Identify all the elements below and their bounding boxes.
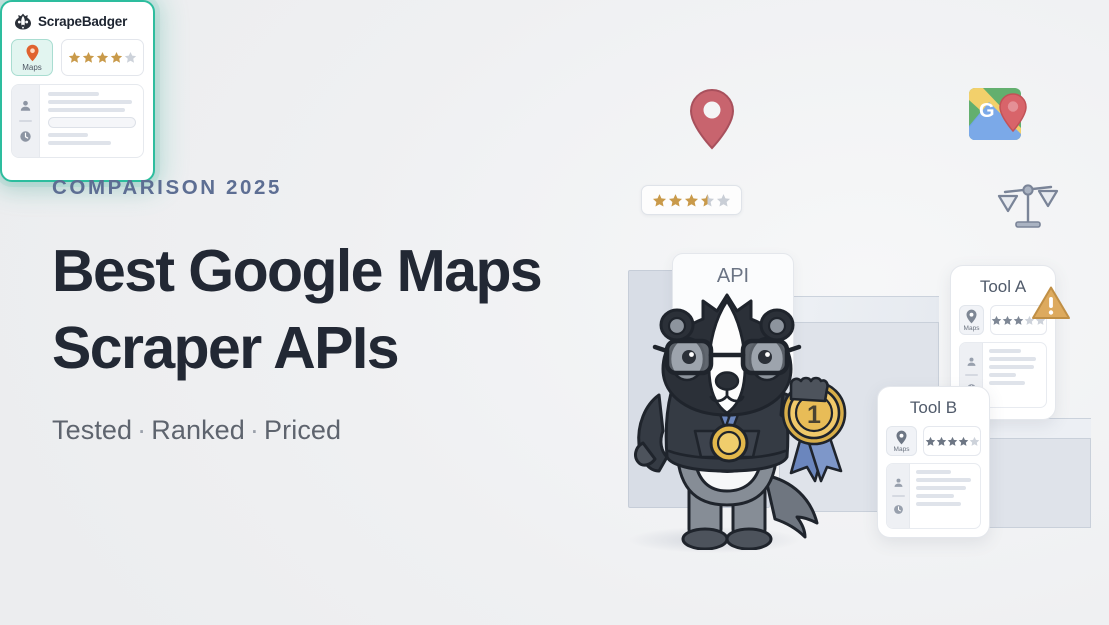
card-scrapebadger[interactable]: ScrapeBadger Maps xyxy=(0,0,155,182)
card-scrapebadger-content xyxy=(11,84,144,158)
skeleton-input-pill[interactable] xyxy=(48,117,136,128)
card-scrapebadger-rating xyxy=(61,39,144,76)
card-tool-b-rating xyxy=(923,426,981,456)
map-pin-icon xyxy=(965,309,978,324)
star-icon xyxy=(82,51,95,64)
rail-divider xyxy=(892,495,905,497)
skeleton-line xyxy=(48,108,125,112)
card-tool-b[interactable]: Tool B Maps xyxy=(877,386,990,538)
person-icon xyxy=(966,356,977,367)
card-tool-b-content xyxy=(886,463,981,529)
star-icon xyxy=(1013,315,1024,326)
star-empty-icon xyxy=(969,436,980,447)
skeleton-line xyxy=(989,381,1025,385)
skeleton-line xyxy=(48,92,99,96)
badger-head-icon xyxy=(13,12,33,31)
svg-text:G: G xyxy=(979,100,995,122)
skeleton-line xyxy=(48,100,132,104)
star-icon xyxy=(1002,315,1013,326)
skeleton-line xyxy=(48,141,111,145)
star-icon xyxy=(96,51,109,64)
star-icon xyxy=(652,193,667,208)
subtitle: Tested·Ranked·Priced xyxy=(52,415,642,446)
star-icon xyxy=(925,436,936,447)
map-pin-icon xyxy=(895,430,908,445)
skeleton-line xyxy=(989,365,1034,369)
subtitle-part-3: Priced xyxy=(264,415,341,445)
subtitle-separator: · xyxy=(245,415,264,445)
skeleton-line xyxy=(916,486,966,490)
maps-chip[interactable]: Maps xyxy=(959,305,984,335)
star-half-icon xyxy=(700,193,715,208)
maps-chip-label: Maps xyxy=(22,63,42,72)
google-maps-icon: G xyxy=(969,88,1031,151)
page-title: Best Google Maps Scraper APIs xyxy=(52,233,642,389)
clock-icon xyxy=(19,130,32,143)
badger-mascot: 1 xyxy=(615,285,850,555)
hero-copy: COMPARISON 2025 Best Google Maps Scraper… xyxy=(52,178,642,446)
star-icon xyxy=(991,315,1002,326)
hero-banner: G xyxy=(0,0,1109,625)
skeleton-line xyxy=(916,502,961,506)
content-rail xyxy=(887,464,910,528)
skeleton-line xyxy=(48,133,88,137)
maps-chip-label: Maps xyxy=(964,325,980,332)
headline-line-1: Best Google Maps xyxy=(52,238,541,304)
star-icon xyxy=(668,193,683,208)
star-icon xyxy=(947,436,958,447)
content-rail xyxy=(12,85,40,157)
card-scrapebadger-brand: ScrapeBadger xyxy=(38,14,127,29)
skeleton-line xyxy=(989,373,1016,377)
star-icon xyxy=(958,436,969,447)
star-icon xyxy=(110,51,123,64)
subtitle-part-2: Ranked xyxy=(151,415,245,445)
card-tool-b-row: Maps xyxy=(886,426,981,456)
map-pin-icon xyxy=(689,88,735,155)
rail-divider xyxy=(19,120,32,122)
card-scrapebadger-row: Maps xyxy=(11,39,144,76)
card-tool-b-title: Tool B xyxy=(886,398,981,418)
skeleton-line xyxy=(916,470,951,474)
content-lines xyxy=(40,85,143,157)
maps-chip[interactable]: Maps xyxy=(11,39,53,76)
star-icon xyxy=(68,51,81,64)
card-scrapebadger-brandrow: ScrapeBadger xyxy=(13,12,144,31)
subtitle-part-1: Tested xyxy=(52,415,132,445)
person-icon xyxy=(19,99,32,112)
clock-icon xyxy=(893,504,904,515)
subtitle-separator: · xyxy=(132,415,151,445)
floating-rating-chip xyxy=(641,185,742,215)
skeleton-line xyxy=(989,357,1036,361)
balance-scales-icon xyxy=(997,178,1059,239)
rail-divider xyxy=(965,374,978,376)
eyebrow-label: COMPARISON 2025 xyxy=(52,178,642,199)
person-icon xyxy=(893,477,904,488)
headline-line-2: Scraper APIs xyxy=(52,315,398,381)
star-icon xyxy=(684,193,699,208)
star-icon xyxy=(936,436,947,447)
star-empty-icon xyxy=(716,193,731,208)
skeleton-line xyxy=(989,349,1021,353)
content-lines xyxy=(910,464,980,528)
map-pin-icon xyxy=(25,44,40,62)
skeleton-line xyxy=(916,478,971,482)
maps-chip[interactable]: Maps xyxy=(886,426,917,456)
maps-chip-label: Maps xyxy=(894,446,910,453)
warning-triangle-icon xyxy=(1031,285,1071,327)
star-empty-icon xyxy=(124,51,137,64)
award-number: 1 xyxy=(807,401,821,429)
content-lines xyxy=(983,343,1046,407)
skeleton-line xyxy=(916,494,954,498)
